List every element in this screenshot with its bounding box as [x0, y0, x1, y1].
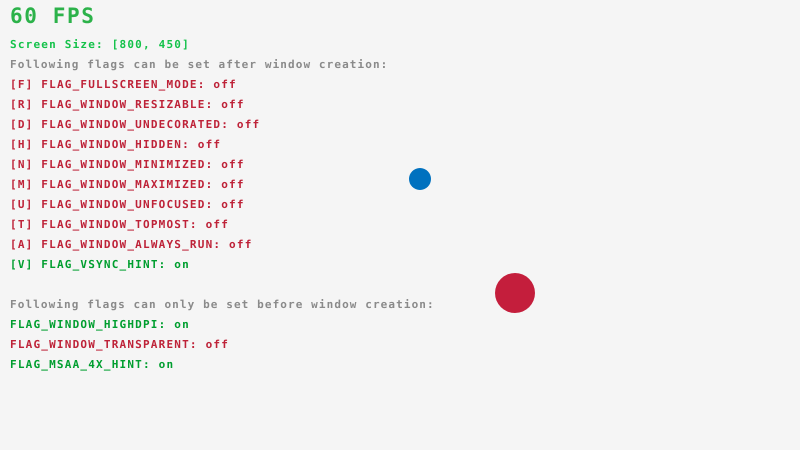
flag-value: off [198, 138, 221, 151]
flag-value: off [237, 118, 260, 131]
flag-label: FLAG_WINDOW_ALWAYS_RUN: [41, 238, 229, 251]
flag-label: FLAG_FULLSCREEN_MODE: [41, 78, 213, 91]
flag-label: FLAG_WINDOW_UNFOCUSED: [41, 198, 221, 211]
flag-value: on [174, 318, 190, 331]
screen-size-label: Screen Size: [800, 450] [10, 39, 190, 50]
flag-label: FLAG_WINDOW_HIDDEN: [41, 138, 197, 151]
flag-flag-window-highdpi[interactable]: FLAG_WINDOW_HIGHDPI: on [10, 319, 190, 330]
section-heading-after-creation: Following flags can be set after window … [10, 59, 388, 70]
flag-value: off [221, 198, 244, 211]
flag-label: FLAG_WINDOW_MINIMIZED: [41, 158, 221, 171]
bouncing-ball-blue [409, 168, 431, 190]
flag-hotkey: [M] [10, 178, 41, 191]
flag-label: FLAG_WINDOW_TRANSPARENT: [10, 338, 206, 351]
flag-hotkey: [T] [10, 218, 41, 231]
flag-hotkey: [U] [10, 198, 41, 211]
flag-value: off [206, 218, 229, 231]
flag-hotkey: [F] [10, 78, 41, 91]
flag-flag-window-topmost[interactable]: [T] FLAG_WINDOW_TOPMOST: off [10, 219, 229, 230]
flag-value: off [221, 178, 244, 191]
flag-flag-window-resizable[interactable]: [R] FLAG_WINDOW_RESIZABLE: off [10, 99, 245, 110]
flag-flag-window-maximized[interactable]: [M] FLAG_WINDOW_MAXIMIZED: off [10, 179, 245, 190]
section-heading-before-creation: Following flags can only be set before w… [10, 299, 435, 310]
flag-label: FLAG_WINDOW_UNDECORATED: [41, 118, 237, 131]
flag-hotkey: [R] [10, 98, 41, 111]
flag-label: FLAG_WINDOW_HIGHDPI: [10, 318, 174, 331]
flag-value: off [206, 338, 229, 351]
flag-label: FLAG_WINDOW_TOPMOST: [41, 218, 205, 231]
flag-label: FLAG_VSYNC_HINT: [41, 258, 174, 271]
flag-hotkey: [D] [10, 118, 41, 131]
flag-flag-fullscreen-mode[interactable]: [F] FLAG_FULLSCREEN_MODE: off [10, 79, 237, 90]
flag-flag-window-undecorated[interactable]: [D] FLAG_WINDOW_UNDECORATED: off [10, 119, 260, 130]
flag-value: on [159, 358, 175, 371]
flag-hotkey: [A] [10, 238, 41, 251]
flag-hotkey: [H] [10, 138, 41, 151]
flag-value: off [213, 78, 236, 91]
flag-flag-window-unfocused[interactable]: [U] FLAG_WINDOW_UNFOCUSED: off [10, 199, 245, 210]
flag-hotkey: [N] [10, 158, 41, 171]
flag-label: FLAG_WINDOW_MAXIMIZED: [41, 178, 221, 191]
flag-flag-window-hidden[interactable]: [H] FLAG_WINDOW_HIDDEN: off [10, 139, 221, 150]
flag-label: FLAG_MSAA_4X_HINT: [10, 358, 159, 371]
flag-flag-window-minimized[interactable]: [N] FLAG_WINDOW_MINIMIZED: off [10, 159, 245, 170]
flag-value: off [221, 98, 244, 111]
flag-value: off [221, 158, 244, 171]
flag-flag-msaa-4x-hint[interactable]: FLAG_MSAA_4X_HINT: on [10, 359, 174, 370]
bouncing-ball-red [495, 273, 535, 313]
flag-label: FLAG_WINDOW_RESIZABLE: [41, 98, 221, 111]
flag-flag-window-transparent[interactable]: FLAG_WINDOW_TRANSPARENT: off [10, 339, 229, 350]
flag-value: off [229, 238, 252, 251]
flag-flag-window-always-run[interactable]: [A] FLAG_WINDOW_ALWAYS_RUN: off [10, 239, 253, 250]
flag-flag-vsync-hint[interactable]: [V] FLAG_VSYNC_HINT: on [10, 259, 190, 270]
flag-value: on [174, 258, 190, 271]
fps-counter: 60 FPS [10, 6, 95, 27]
raylib-window-flags-demo: 60 FPS Screen Size: [800, 450] Following… [0, 0, 800, 450]
flag-hotkey: [V] [10, 258, 41, 271]
